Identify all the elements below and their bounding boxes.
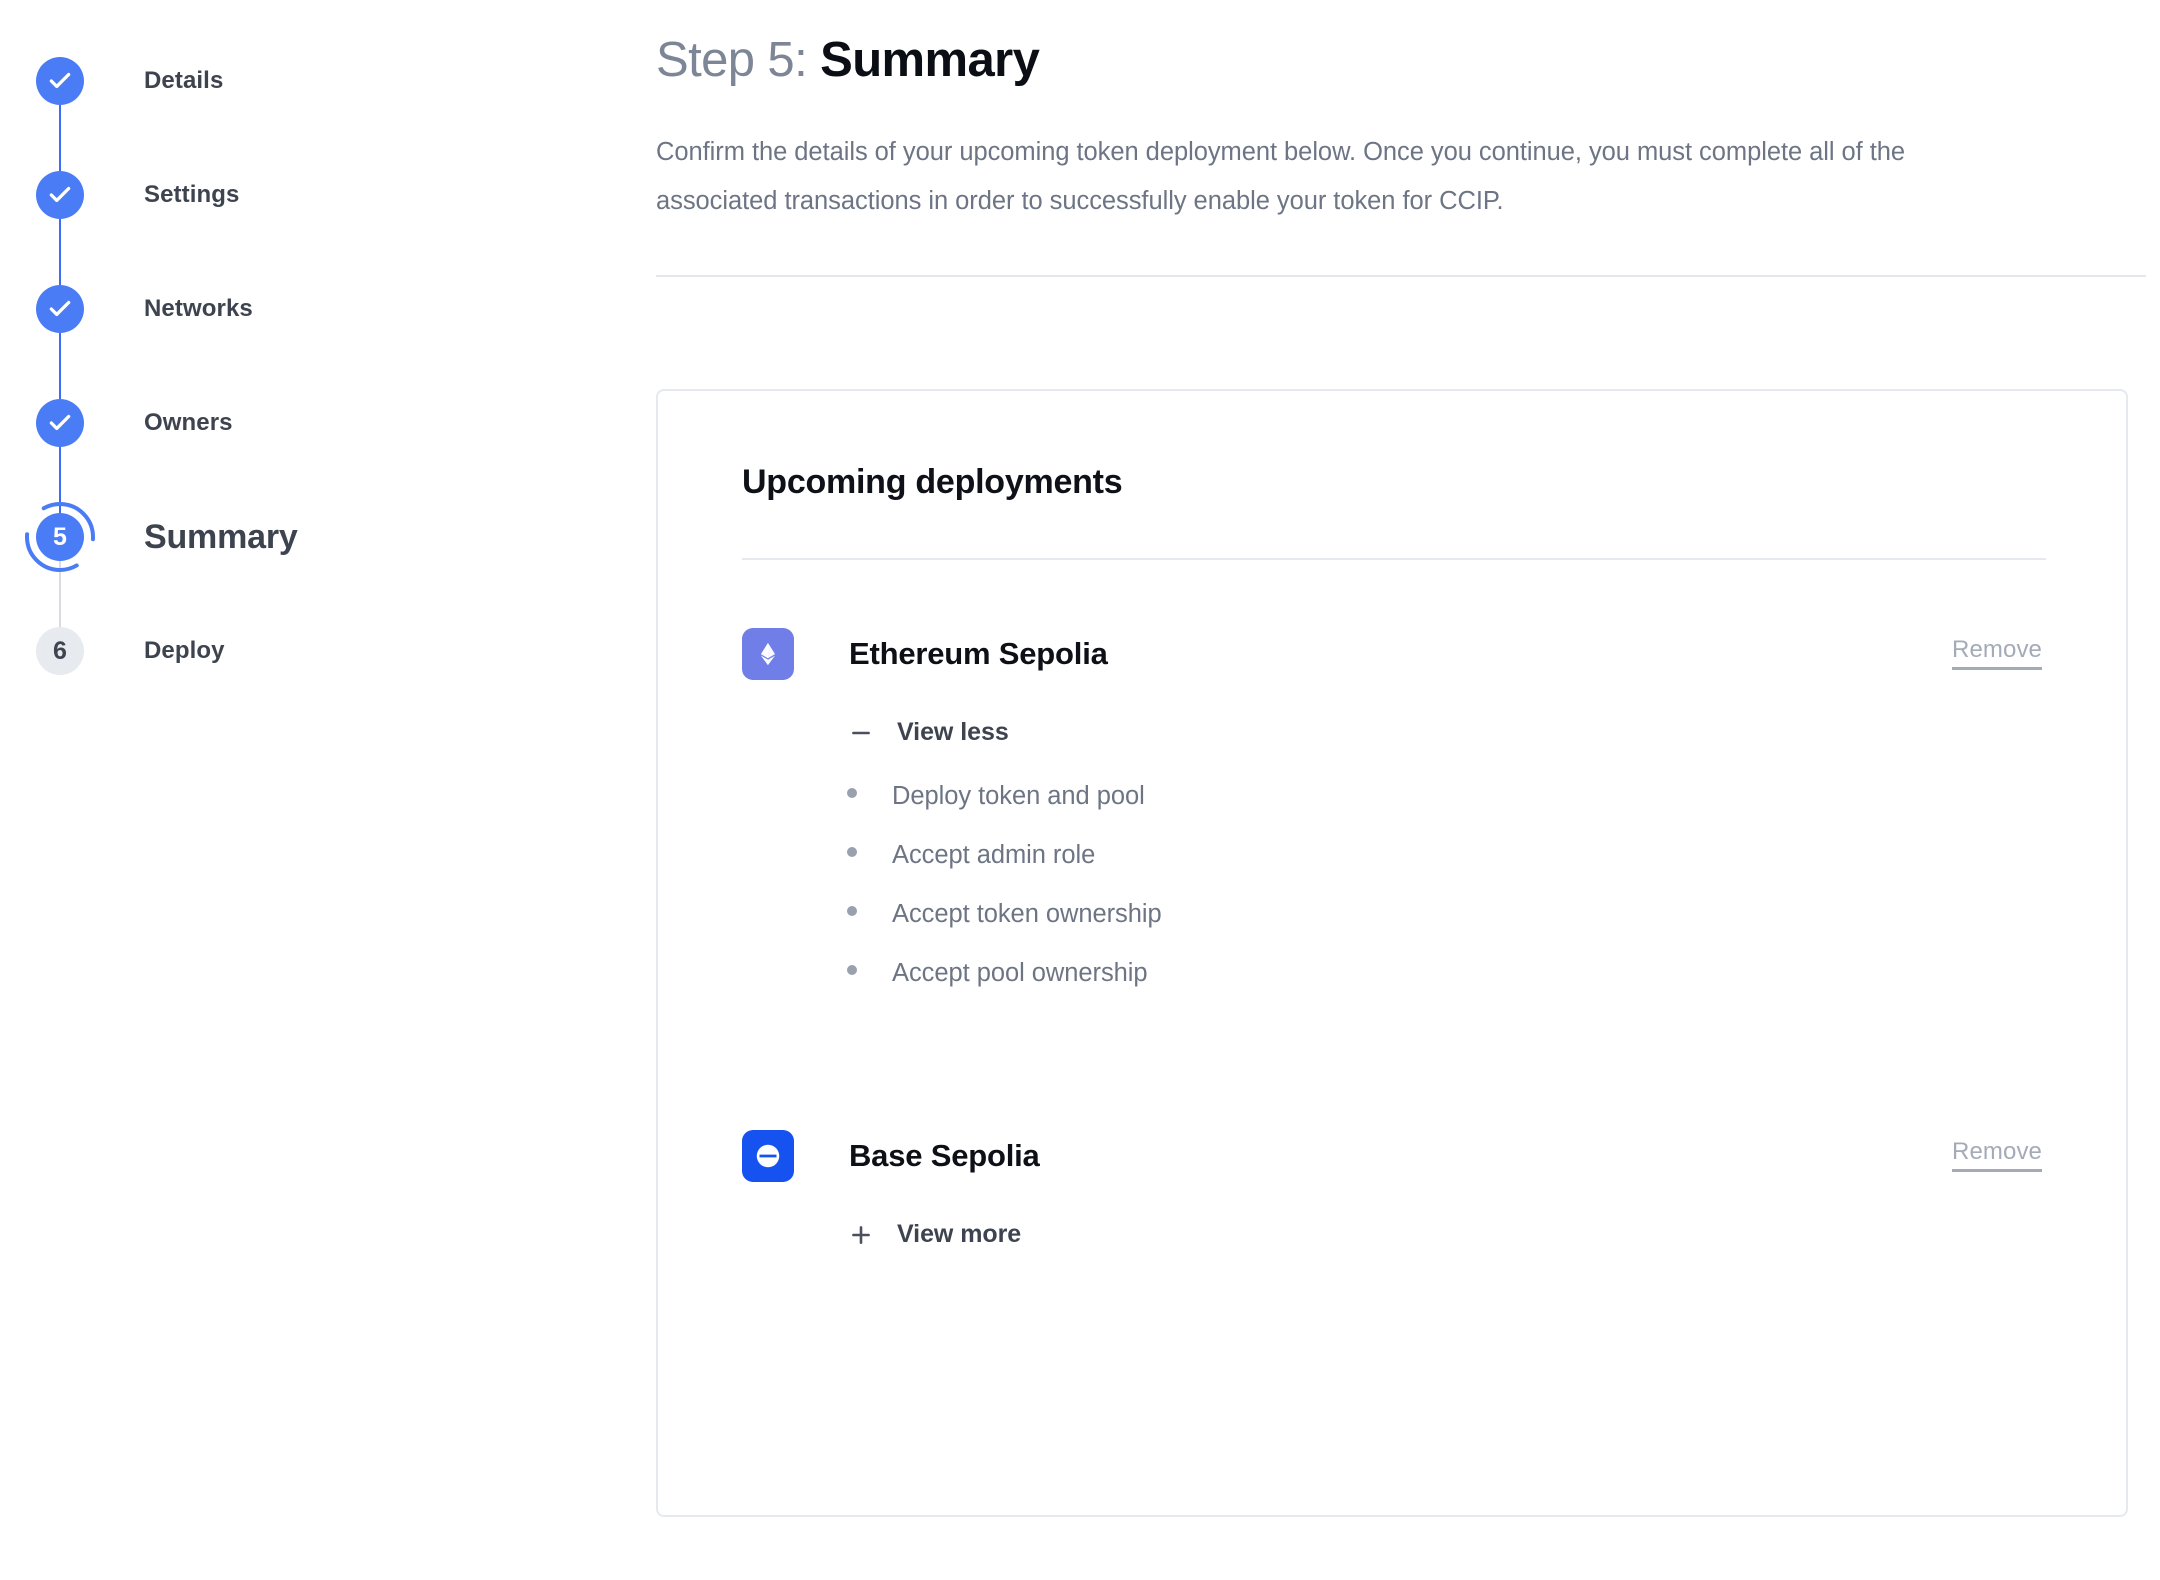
- stepper-connector: [59, 366, 61, 399]
- page-description: Confirm the details of your upcoming tok…: [656, 128, 1946, 226]
- main-content: Step 5: Summary Confirm the details of y…: [656, 0, 2160, 1517]
- network-name: Base Sepolia: [849, 1138, 1040, 1174]
- remove-network-link[interactable]: Remove: [1952, 638, 2042, 670]
- step-marker-networks: [28, 252, 92, 366]
- page-title-text: Summary: [820, 33, 1039, 87]
- sidebar-step-label-details: Details: [144, 67, 223, 95]
- stepper-connector: [59, 219, 61, 252]
- step-marker-summary: 5: [28, 480, 92, 594]
- view-toggle-label: View more: [897, 1220, 1021, 1249]
- check-icon: [36, 399, 84, 447]
- section-divider: [656, 275, 2146, 277]
- bullet-icon: [847, 847, 857, 857]
- step-marker-settings: [28, 138, 92, 252]
- summary-page: Details Settings Networks: [0, 0, 2160, 1580]
- sidebar-step-summary[interactable]: 5 Summary: [0, 480, 660, 594]
- network-block-ethereum-sepolia: Ethereum Sepolia Remove View less Deploy…: [742, 628, 2042, 1018]
- step-marker-details: [28, 24, 92, 138]
- task-label: Accept pool ownership: [892, 959, 1148, 988]
- check-icon: [36, 171, 84, 219]
- sidebar-step-deploy[interactable]: 6 Deploy: [0, 594, 660, 708]
- check-icon: [36, 285, 84, 333]
- bullet-icon: [847, 788, 857, 798]
- upcoming-deployments-card: Upcoming deployments Ethereum Sepolia Re: [656, 389, 2128, 1517]
- network-name: Ethereum Sepolia: [849, 636, 1108, 672]
- sidebar-step-details[interactable]: Details: [0, 24, 660, 138]
- stepper-connector: [59, 138, 61, 171]
- sidebar-step-networks[interactable]: Networks: [0, 252, 660, 366]
- card-title: Upcoming deployments: [742, 463, 2042, 502]
- minus-icon: [847, 719, 875, 747]
- sidebar-step-label-networks: Networks: [144, 295, 253, 323]
- step-marker-owners: [28, 366, 92, 480]
- step-number-badge: 5: [36, 513, 84, 561]
- task-label: Accept admin role: [892, 841, 1095, 870]
- check-icon: [36, 57, 84, 105]
- page-title: Step 5: Summary: [656, 30, 2160, 91]
- list-item: Accept token ownership: [847, 900, 2042, 959]
- network-header: Base Sepolia Remove: [742, 1130, 2042, 1182]
- stepper-connector: [59, 252, 61, 285]
- view-more-toggle[interactable]: View more: [847, 1220, 1021, 1249]
- view-toggle-label: View less: [897, 718, 1009, 747]
- network-block-base-sepolia: Base Sepolia Remove View more: [742, 1130, 2042, 1249]
- network-header: Ethereum Sepolia Remove: [742, 628, 2042, 680]
- stepper-connector: [59, 480, 61, 513]
- bullet-icon: [847, 906, 857, 916]
- task-label: Deploy token and pool: [892, 782, 1145, 811]
- remove-network-link[interactable]: Remove: [1952, 1140, 2042, 1172]
- base-glyph: [753, 1141, 783, 1171]
- plus-icon: [847, 1221, 875, 1249]
- sidebar-step-owners[interactable]: Owners: [0, 366, 660, 480]
- card-divider: [742, 558, 2046, 560]
- base-icon: [742, 1130, 794, 1182]
- stepper-connector: [59, 447, 61, 480]
- ethereum-icon: [742, 628, 794, 680]
- stepper-connector: [59, 561, 61, 594]
- view-less-toggle[interactable]: View less: [847, 718, 1009, 747]
- deployment-task-list: Deploy token and pool Accept admin role …: [847, 782, 2042, 1018]
- sidebar-step-label-settings: Settings: [144, 181, 239, 209]
- step-marker-deploy: 6: [28, 594, 92, 708]
- sidebar-step-label-owners: Owners: [144, 409, 233, 437]
- sidebar-step-label-summary: Summary: [144, 518, 298, 557]
- stepper-connector: [59, 105, 61, 138]
- list-item: Deploy token and pool: [847, 782, 2042, 841]
- page-title-step-prefix: Step 5:: [656, 33, 807, 87]
- list-item: Accept admin role: [847, 841, 2042, 900]
- ethereum-glyph: [754, 640, 782, 668]
- stepper-connector: [59, 594, 61, 627]
- stepper-connector: [59, 333, 61, 366]
- sidebar-step-settings[interactable]: Settings: [0, 138, 660, 252]
- sidebar-step-label-deploy: Deploy: [144, 637, 225, 665]
- bullet-icon: [847, 965, 857, 975]
- wizard-stepper: Details Settings Networks: [0, 0, 660, 708]
- list-item: Accept pool ownership: [847, 959, 2042, 1018]
- task-label: Accept token ownership: [892, 900, 1162, 929]
- step-number-badge: 6: [36, 627, 84, 675]
